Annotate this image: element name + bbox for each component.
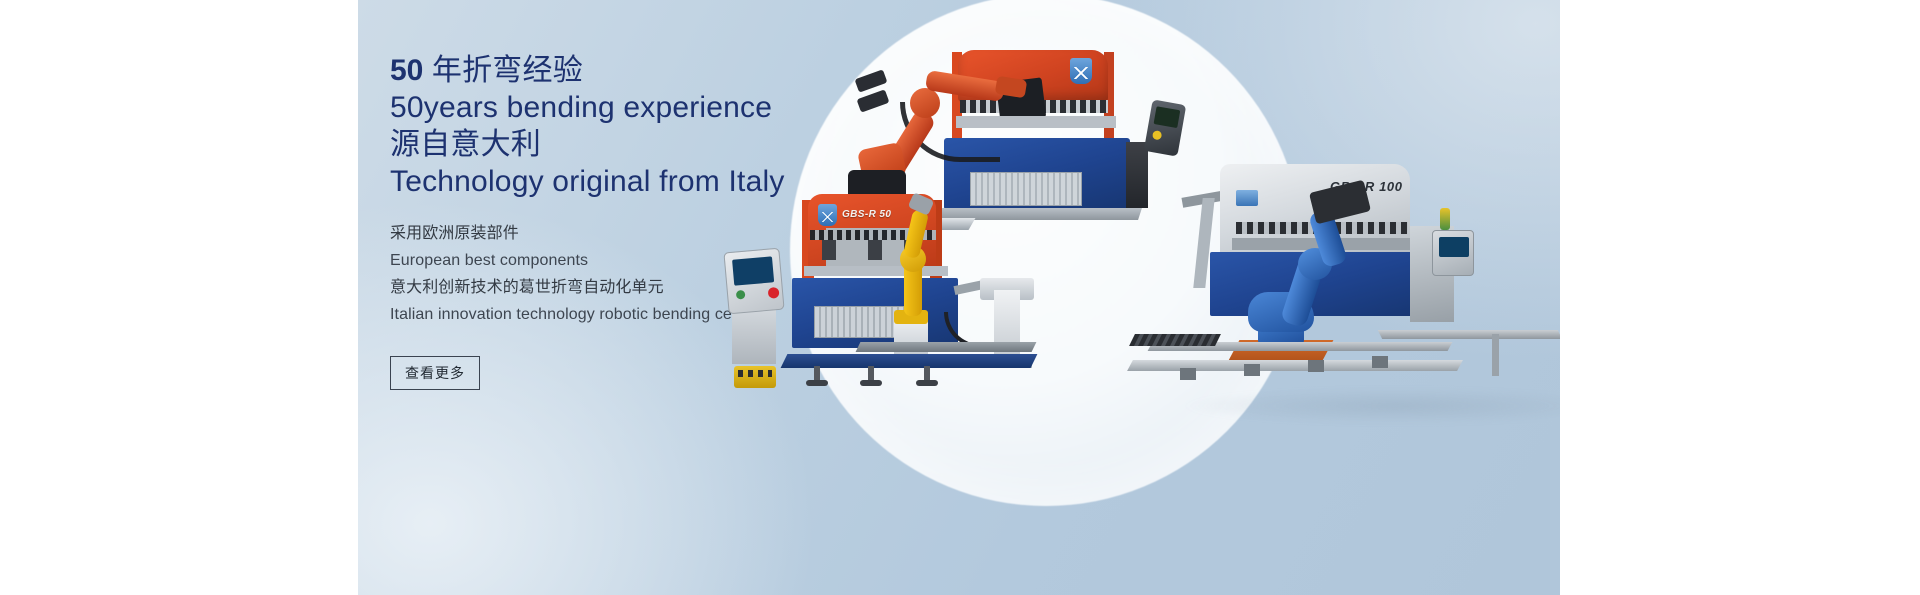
gbs100-rail-leg bbox=[1492, 334, 1499, 376]
gbs100-rail-cleat-2 bbox=[1244, 364, 1260, 376]
gbs50-foot-pad-1 bbox=[806, 380, 828, 386]
hero-banner: 50 年折弯经验 50years bending experience 源自意大… bbox=[358, 0, 1560, 595]
robot-gripper-lower bbox=[857, 89, 890, 112]
gbs100-side-rail bbox=[1378, 330, 1560, 339]
machine-gbs-r-100: GBS-R 100 bbox=[1140, 164, 1560, 384]
gbs50-model-label: GBS-R 50 bbox=[842, 210, 891, 220]
gbs50-console-pedestal bbox=[732, 308, 776, 364]
lag-logo-icon bbox=[1070, 58, 1092, 84]
banner-root: 50 年折弯经验 50years bending experience 源自意大… bbox=[0, 0, 1920, 595]
teach-pendant bbox=[1144, 99, 1187, 156]
lag-logo-icon bbox=[818, 204, 837, 226]
gbs100-signal-tower bbox=[1440, 208, 1450, 230]
gbs50-linear-rail bbox=[856, 342, 1037, 352]
gbs100-hmi-panel bbox=[1432, 230, 1474, 276]
view-more-button[interactable]: 查看更多 bbox=[390, 356, 480, 390]
gbs50-foot-pad-3 bbox=[916, 380, 938, 386]
headline-years-number: 50 bbox=[390, 54, 423, 87]
gbs50-foot-pad-2 bbox=[860, 380, 882, 386]
gbs100-rail-cleat-3 bbox=[1308, 360, 1324, 372]
machine-gbs-r-50: GBS-R 50 bbox=[718, 194, 1138, 394]
gbs50-punch-1 bbox=[822, 240, 836, 260]
product-photo-shadow bbox=[1180, 388, 1560, 424]
robot-elbow-joint bbox=[910, 88, 940, 118]
lag-logo-icon bbox=[1236, 190, 1258, 206]
gbs100-rail-cleat-4 bbox=[1372, 356, 1388, 368]
gbs50-operator-console bbox=[723, 248, 784, 315]
gbs100-cable-chain bbox=[1129, 334, 1221, 346]
gbs100-rail-cleat-1 bbox=[1180, 368, 1196, 380]
headline-line-1-cn: 年折弯经验 bbox=[423, 54, 583, 87]
gbs50-punch-2 bbox=[868, 240, 882, 260]
gbs50-bed bbox=[804, 266, 948, 276]
gbs100-floor-rail-front bbox=[1127, 360, 1463, 371]
product-photo: GBS-R 50 bbox=[710, 16, 1560, 416]
foot-pedal-switch bbox=[734, 366, 776, 388]
